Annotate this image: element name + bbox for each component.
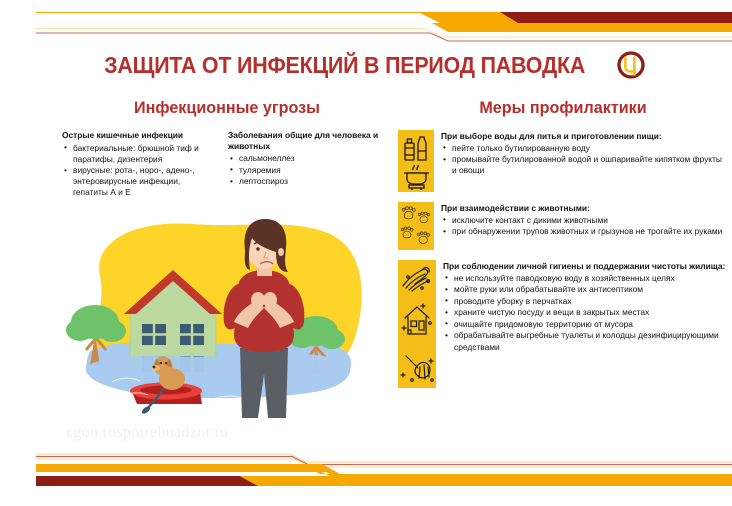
list-item: при обнаружении трупов животных и грызун…	[441, 226, 728, 237]
rospotrebnadzor-cgon-logo-icon	[616, 50, 646, 80]
measure-title: При взаимодействии с животными:	[441, 203, 728, 214]
water-bottles-and-cooking-pot-icon	[398, 130, 434, 192]
measure-title: При выборе воды для питья и приготовлени…	[441, 131, 728, 142]
page-title: ЗАЩИТА ОТ ИНФЕКЦИЙ В ПЕРИОД ПАВОДКА	[104, 52, 585, 79]
measure-block-animals: При взаимодействии с животными: исключит…	[398, 202, 728, 250]
measure-body: При соблюдении личной гигиены и поддержа…	[443, 260, 728, 353]
measure-body: При взаимодействии с животными: исключит…	[441, 202, 728, 238]
page-title-row: ЗАЩИТА ОТ ИНФЕКЦИЙ В ПЕРИОД ПАВОДКА	[0, 50, 732, 80]
measure-title: При соблюдении личной гигиены и поддержа…	[443, 261, 728, 272]
threat-group-title: Заболевания общие для человека и животны…	[228, 130, 392, 151]
list-item: храните чистую посуду и вещи в закрытых …	[443, 307, 728, 318]
measures-heading: Меры профилактики	[406, 98, 720, 118]
threat-group-acute-intestinal: Острые кишечные инфекции бактериальные: …	[62, 130, 214, 199]
measure-list: не используйте паводковую воду в хозяйст…	[443, 273, 728, 353]
threats-columns: Острые кишечные инфекции бактериальные: …	[62, 130, 392, 199]
flood-water-front	[88, 354, 350, 399]
measure-list: пейте только бутилированную воду промыва…	[441, 143, 728, 177]
list-item: мойте руки или обрабатывайте их антисепт…	[443, 284, 728, 295]
list-item: сальмонеллез	[228, 153, 392, 164]
flood-illustration	[62, 214, 392, 426]
measure-block-water: При выборе воды для питья и приготовлени…	[398, 130, 728, 192]
list-item: исключите контакт с дикими животными	[441, 215, 728, 226]
handwashing-house-broom-icon	[398, 260, 436, 388]
threat-group-list: сальмонеллез туляремия лептоспироз	[228, 153, 392, 187]
threats-heading: Инфекционные угрозы	[70, 98, 384, 118]
list-item: вирусные: рота-, норо-, адено-, энтерови…	[62, 165, 214, 198]
preventive-measures-section: Меры профилактики При выборе воды	[398, 98, 728, 398]
footer-ribbon-decoration	[0, 452, 732, 492]
animal-paw-prints-icon	[398, 202, 434, 250]
list-item: бактериальные: брюшной тиф и паратифы, д…	[62, 143, 214, 165]
measure-block-hygiene: При соблюдении личной гигиены и поддержа…	[398, 260, 728, 388]
infectious-threats-section: Инфекционные угрозы Острые кишечные инфе…	[62, 98, 392, 199]
list-item: обрабатывайте выгребные туалеты и колодц…	[443, 330, 728, 352]
list-item: проводите уборку в перчатках	[443, 296, 728, 307]
threat-group-title: Острые кишечные инфекции	[62, 130, 214, 141]
list-item: очищайте придомовую территорию от мусора	[443, 319, 728, 330]
list-item: промывайте бутилированной водой и ошпари…	[441, 154, 728, 176]
threat-group-zoonotic: Заболевания общие для человека и животны…	[228, 130, 392, 199]
list-item: лептоспироз	[228, 176, 392, 187]
list-item: туляремия	[228, 165, 392, 176]
header-ribbon-decoration	[0, 10, 732, 50]
list-item: не используйте паводковую воду в хозяйст…	[443, 273, 728, 284]
list-item: пейте только бутилированную воду	[441, 143, 728, 154]
measure-list: исключите контакт с дикими животными при…	[441, 215, 728, 238]
watermark-url: cgon.rospotrebnadzor.ru	[66, 424, 228, 442]
threat-group-list: бактериальные: брюшной тиф и паратифы, д…	[62, 143, 214, 199]
measure-body: При выборе воды для питья и приготовлени…	[441, 130, 728, 177]
